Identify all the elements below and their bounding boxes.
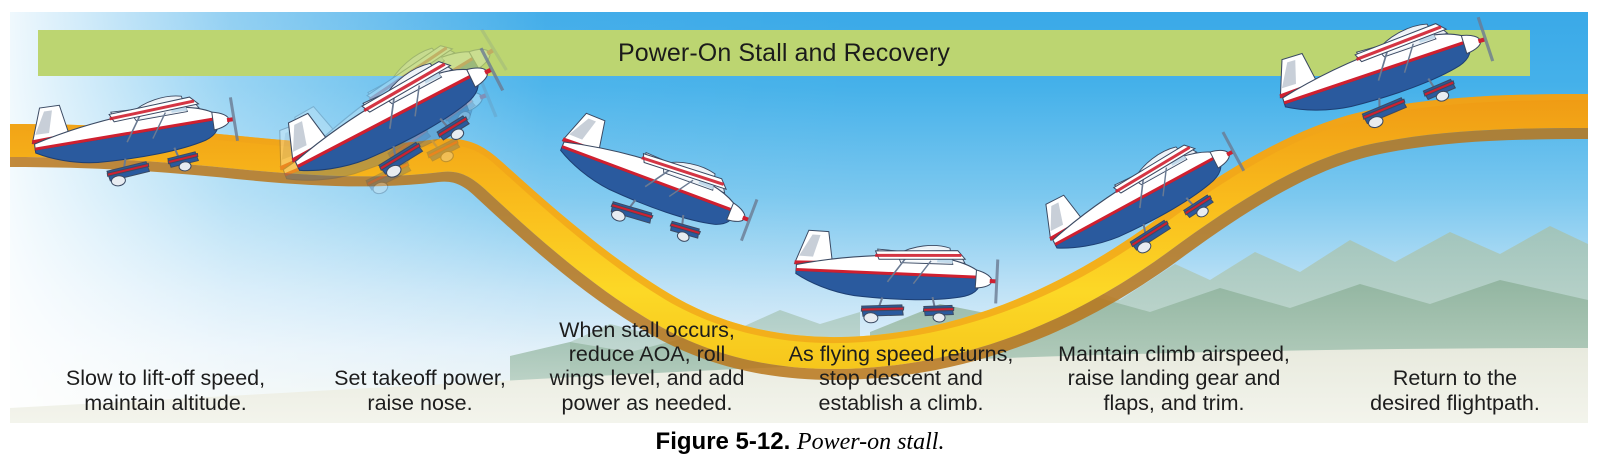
aircraft-return-level xyxy=(1270,12,1503,152)
figure-description: Power-on stall. xyxy=(797,429,945,455)
aircraft-climb-out xyxy=(1035,117,1258,288)
aircraft-nose-up-stall xyxy=(252,12,539,241)
aircraft-stall-break xyxy=(542,109,765,267)
illustration-panel: Power-On Stall and Recovery Slow to lift… xyxy=(10,12,1588,423)
aircraft-slow-flight xyxy=(28,81,243,197)
aircraft-recovery-dive xyxy=(791,229,1002,331)
figure-caption: Figure 5-12. Power-on stall. xyxy=(0,428,1600,456)
aircraft-layer xyxy=(10,12,1588,423)
figure-number: Figure 5-12. xyxy=(656,428,797,455)
figure-root: Power-On Stall and Recovery Slow to lift… xyxy=(0,0,1600,474)
